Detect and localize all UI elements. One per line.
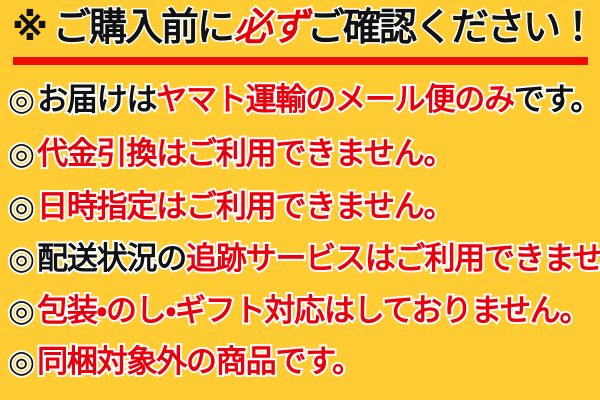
notice-line-3: ◎ 日時指定はご利用できません。 (8, 185, 600, 229)
notice-line-4: ◎ 配送状況の 追跡サービスはご利用できません。 (8, 237, 600, 281)
notice-line-4-segment-2: 追跡サービスはご利用できません。 (186, 244, 600, 275)
notice-line-6: ◎ 同梱対象外の商品です。 (8, 340, 600, 384)
header-divider-rule (13, 57, 588, 65)
shipping-notice-banner: ※ ご購入前に 必ず ご確認ください！ ◎ お届けは ヤマト運輸のメール便のみ … (0, 0, 600, 400)
notice-line-1-segment-3: です。 (514, 85, 600, 116)
notice-line-6-segment-1: 同梱対象外の商品です。 (37, 347, 362, 378)
double-circle-bullet-icon: ◎ (8, 296, 35, 327)
header-text-part1: ご購入前に (53, 8, 233, 46)
notice-line-4-segment-1: 配送状況の (37, 244, 186, 275)
banner-header: ※ ご購入前に 必ず ご確認ください！ (0, 0, 600, 54)
double-circle-bullet-icon: ◎ (8, 244, 35, 275)
double-circle-bullet-icon: ◎ (8, 85, 35, 116)
notice-line-1-segment-2: ヤマト運輸のメール便のみ (156, 85, 514, 116)
double-circle-bullet-icon: ◎ (8, 192, 35, 223)
notice-line-2-segment-1: 代金引換はご利用できません。 (37, 139, 453, 170)
double-circle-bullet-icon: ◎ (8, 347, 35, 378)
notice-line-2: ◎ 代金引換はご利用できません。 (8, 132, 600, 176)
header-emphasis-text: 必ず (233, 8, 307, 46)
reference-mark-icon: ※ (12, 9, 47, 46)
header-text-part2: ご確認ください！ (307, 8, 595, 46)
notice-line-3-segment-1: 日時指定はご利用できません。 (37, 192, 453, 223)
notice-line-1-segment-1: お届けは (37, 85, 156, 116)
notice-line-5-segment-1: 包装・のし・ギフト対応はしておりません。 (37, 296, 589, 327)
double-circle-bullet-icon: ◎ (8, 139, 35, 170)
notice-line-5: ◎ 包装・のし・ギフト対応はしておりません。 (8, 289, 600, 333)
notice-line-1: ◎ お届けは ヤマト運輸のメール便のみ です。 (8, 78, 600, 122)
